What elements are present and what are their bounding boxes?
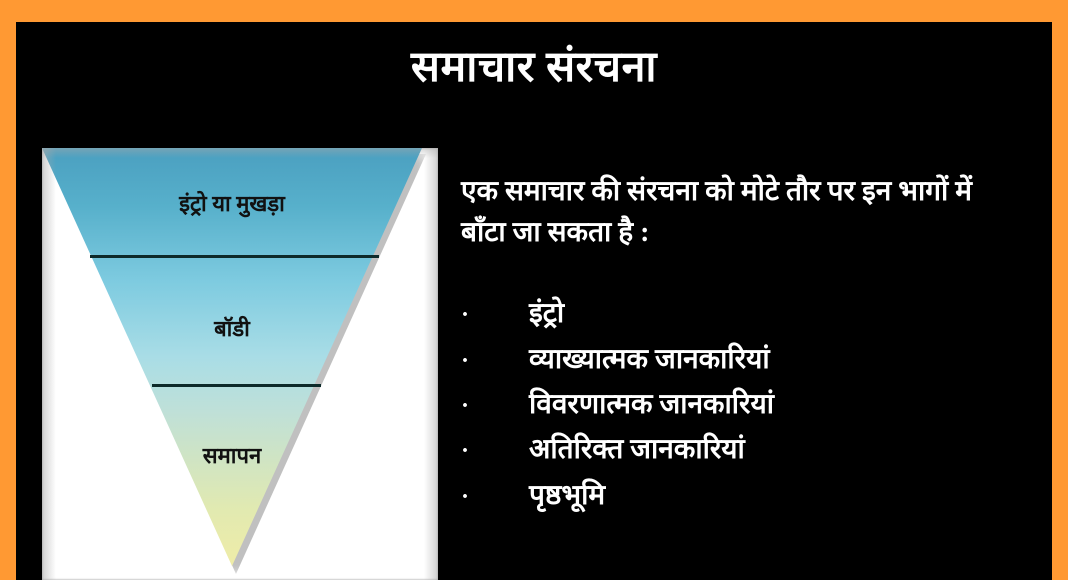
pyramid-diagram-card: इंट्रो या मुखड़ा बॉडी समापन bbox=[42, 148, 438, 580]
inverted-pyramid-diagram: इंट्रो या मुखड़ा बॉडी समापन bbox=[42, 148, 438, 580]
pyramid-level-label-intro: इंट्रो या मुखड़ा bbox=[42, 188, 422, 218]
bullet-dot-icon: · bbox=[461, 485, 529, 509]
list-item-label: अतिरिक्त जानकारियां bbox=[529, 427, 745, 472]
list-item-label: पृष्ठभूमि bbox=[529, 473, 605, 518]
slide-root: समाचार संरचना इंट्रो या मुखड़ा बॉडी समाप… bbox=[0, 0, 1068, 580]
list-item: · अतिरिक्त जानकारियां bbox=[461, 427, 1041, 472]
list-item: · व्याख्यात्मक जानकारियां bbox=[461, 337, 1041, 382]
bullet-dot-icon: · bbox=[461, 303, 529, 327]
list-item: · इंट्रो bbox=[461, 291, 1041, 336]
pyramid-level-label-body: बॉडी bbox=[42, 313, 422, 343]
slide-content-area: समाचार संरचना इंट्रो या मुखड़ा बॉडी समाप… bbox=[16, 22, 1052, 580]
list-item-label: व्याख्यात्मक जानकारियां bbox=[529, 337, 770, 382]
text-column: एक समाचार की संरचना को मोटे तौर पर इन भा… bbox=[461, 172, 1041, 518]
structure-bullet-list: · इंट्रो · व्याख्यात्मक जानकारियां · विव… bbox=[461, 291, 1041, 518]
list-item-label: विवरणात्मक जानकारियां bbox=[529, 382, 774, 427]
bullet-dot-icon: · bbox=[461, 349, 529, 373]
intro-paragraph: एक समाचार की संरचना को मोटे तौर पर इन भा… bbox=[461, 172, 1006, 253]
bullet-dot-icon: · bbox=[461, 394, 529, 418]
pyramid-divider-lower bbox=[152, 384, 321, 387]
list-item-label: इंट्रो bbox=[529, 291, 564, 336]
bullet-dot-icon: · bbox=[461, 439, 529, 463]
list-item: · विवरणात्मक जानकारियां bbox=[461, 382, 1041, 427]
pyramid-level-label-closing: समापन bbox=[42, 440, 422, 470]
pyramid-divider-upper bbox=[90, 255, 379, 258]
page-title: समाचार संरचना bbox=[16, 44, 1052, 91]
list-item: · पृष्ठभूमि bbox=[461, 473, 1041, 518]
